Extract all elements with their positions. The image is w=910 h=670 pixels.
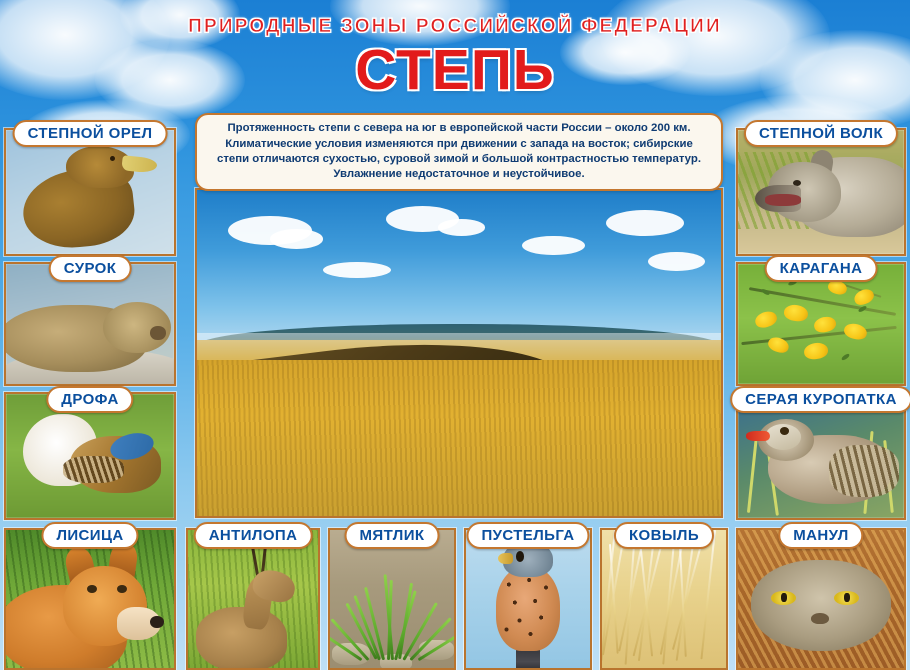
right-label-text: МАНУЛ: [793, 527, 848, 544]
left-label-bustard: ДРОФА: [46, 386, 133, 413]
bottom-label-bluegrass: МЯТЛИК: [345, 522, 440, 549]
right-label-text: СЕРАЯ КУРОПАТКА: [745, 391, 897, 408]
bottom-label-text: МЯТЛИК: [360, 527, 425, 544]
bottom-label-text: ПУСТЕЛЬГА: [481, 527, 574, 544]
left-panel-fox[interactable]: [4, 528, 176, 670]
right-label-text: КАРАГАНА: [780, 260, 863, 277]
right-panel-pallas-cat[interactable]: [736, 528, 906, 670]
fox-photo: [6, 530, 174, 668]
left-label-text: ДРОФА: [61, 391, 118, 408]
left-label-marmot: СУРОК: [49, 255, 132, 282]
right-label-pallas-cat: МАНУЛ: [778, 522, 863, 549]
antelope-photo: [188, 530, 318, 668]
bottom-label-text: КОВЫЛЬ: [629, 527, 699, 544]
right-panel-steppe-wolf[interactable]: [736, 128, 906, 256]
feather-grass-photo: [602, 530, 726, 668]
steppe-landscape-photo: [197, 190, 721, 516]
left-panel-steppe-eagle[interactable]: [4, 128, 176, 256]
description-box: Протяженность степи с севера на юг в евр…: [195, 113, 723, 191]
bottom-label-kestrel: ПУСТЕЛЬГА: [466, 522, 589, 549]
description-text: Протяженность степи с севера на юг в евр…: [197, 121, 721, 183]
left-label-fox: ЛИСИЦА: [41, 522, 138, 549]
steppe-eagle-photo: [6, 130, 174, 254]
bottom-label-feather-grass: КОВЫЛЬ: [614, 522, 714, 549]
bottom-panel-antelope[interactable]: [186, 528, 320, 670]
right-label-grey-partridge: СЕРАЯ КУРОПАТКА: [730, 386, 910, 413]
center-landscape-panel[interactable]: [195, 188, 723, 518]
grey-partridge-photo: [738, 400, 904, 518]
bottom-label-antelope: АНТИЛОПА: [194, 522, 313, 549]
left-label-text: СТЕПНОЙ ОРЕЛ: [28, 125, 153, 142]
poster-title: СТЕПЬ: [0, 40, 910, 100]
bluegrass-photo: [330, 530, 454, 668]
bottom-label-text: АНТИЛОПА: [209, 527, 298, 544]
bottom-panel-feather-grass[interactable]: [600, 528, 728, 670]
left-label-text: СУРОК: [64, 260, 117, 277]
steppe-wolf-photo: [738, 130, 904, 254]
bottom-panel-kestrel[interactable]: [464, 528, 592, 670]
poster-header: ПРИРОДНЫЕ ЗОНЫ РОССИЙСКОЙ ФЕДЕРАЦИИ СТЕП…: [0, 0, 910, 112]
right-panel-grey-partridge[interactable]: [736, 398, 906, 520]
right-label-caragana: КАРАГАНА: [765, 255, 878, 282]
right-label-steppe-wolf: СТЕПНОЙ ВОЛК: [744, 120, 898, 147]
left-label-text: ЛИСИЦА: [56, 527, 123, 544]
bottom-panel-bluegrass[interactable]: [328, 528, 456, 670]
caragana-photo: [738, 264, 904, 384]
kestrel-photo: [466, 530, 590, 668]
poster-supertitle: ПРИРОДНЫЕ ЗОНЫ РОССИЙСКОЙ ФЕДЕРАЦИИ: [0, 16, 910, 38]
left-label-steppe-eagle: СТЕПНОЙ ОРЕЛ: [13, 120, 168, 147]
poster-root: ПРИРОДНЫЕ ЗОНЫ РОССИЙСКОЙ ФЕДЕРАЦИИ СТЕП…: [0, 0, 910, 670]
right-label-text: СТЕПНОЙ ВОЛК: [759, 125, 883, 142]
pallas-cat-photo: [738, 530, 904, 668]
marmot-photo: [6, 264, 174, 384]
